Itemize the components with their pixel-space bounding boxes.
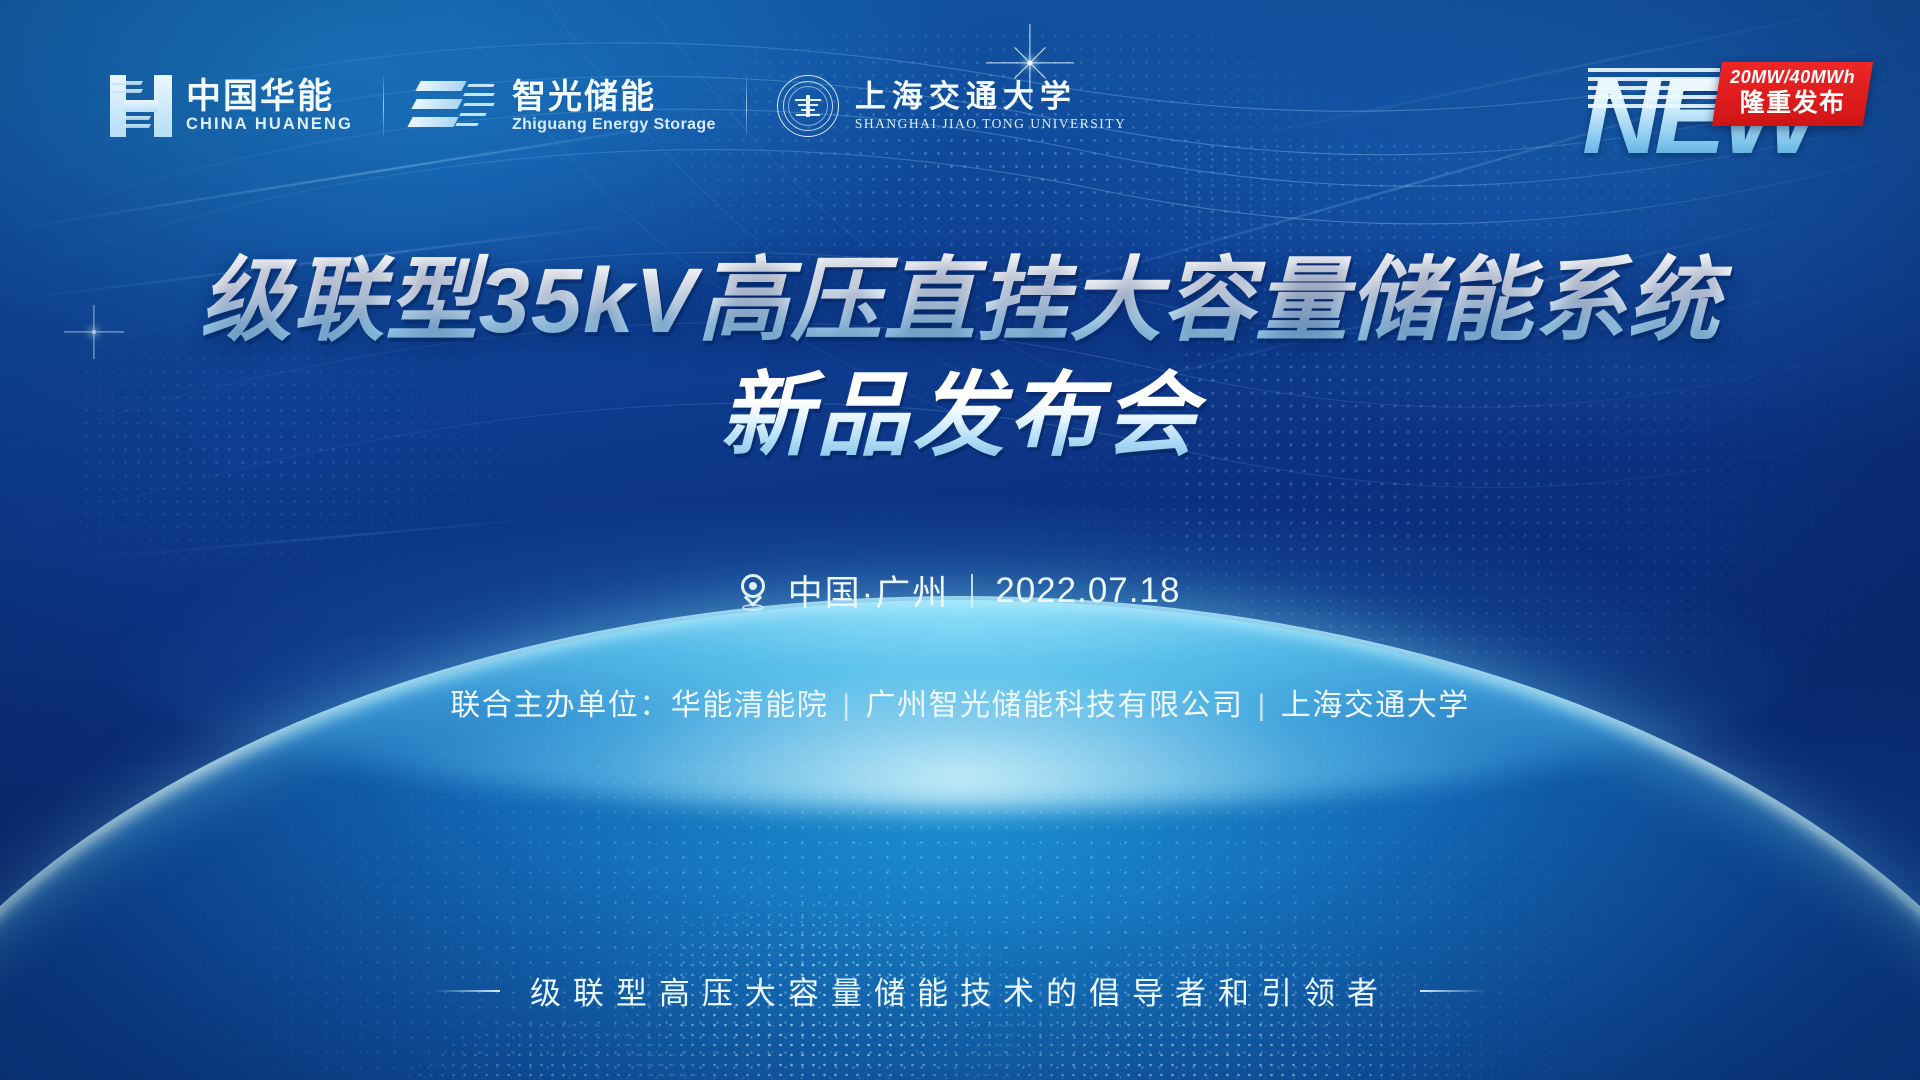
logo-divider-1: [383, 75, 384, 137]
logo-shanghai-jiao-tong-university[interactable]: 上海交通大学 SHANGHAI JIAO TONG UNIVERSITY: [777, 68, 1126, 144]
sjtu-name-en: SHANGHAI JIAO TONG UNIVERSITY: [855, 117, 1126, 131]
footer-slogan-row: 级联型高压大容量储能技术的倡导者和引领者: [0, 968, 1920, 1013]
logo-divider-2: [746, 75, 747, 137]
sjtu-name-cn: 上海交通大学: [855, 81, 1126, 112]
organizers-row: 联合主办单位：华能清能院|广州智光储能科技有限公司|上海交通大学: [0, 680, 1920, 724]
slogan-rule-right: [1420, 990, 1486, 992]
slogan-rule-left: [434, 990, 500, 992]
red-launch-flag: 20MW/40MWh 隆重发布: [1712, 62, 1873, 126]
organizer-2: 广州智光储能科技有限公司: [866, 689, 1244, 722]
organizer-separator-2: |: [1258, 689, 1267, 722]
continent-landmass-3: [360, 1020, 740, 1080]
organizer-3: 上海交通大学: [1281, 689, 1470, 722]
badge-spec-text: 20MW/40MWh: [1730, 68, 1855, 88]
organizer-1: 华能清能院: [671, 689, 829, 722]
event-date: 2022.07.18: [995, 571, 1180, 611]
logo-china-huaneng[interactable]: 中国华能 CHINA HUANENG: [110, 68, 353, 144]
meta-separator: [971, 574, 973, 608]
partner-logo-bar: 中国华能 CHINA HUANENG 智光储能: [110, 68, 1126, 144]
zhiguang-slab-mark-icon: [414, 77, 498, 135]
sjtu-seal-emblem-icon: [795, 95, 821, 117]
sparkle-icon-3: [1318, 758, 1388, 828]
sjtu-seal-icon: [777, 75, 839, 137]
new-release-badge: NEW 20MW/40MWh 隆重发布: [1582, 38, 1862, 178]
organizer-separator-1: |: [842, 689, 851, 722]
huaneng-name-en: CHINA HUANENG: [186, 116, 353, 133]
huaneng-h-mark-icon: [110, 75, 172, 137]
globe-atmosphere-glow: [110, 510, 1810, 810]
event-location: 中国·广州: [788, 565, 950, 616]
organizers-prefix: 联合主办单位：: [450, 689, 671, 722]
new-stripe-lines-icon: [1588, 68, 1720, 114]
badge-label-cn: 隆重发布: [1730, 89, 1855, 118]
page-title-line1: 级联型35kV高压直挂大容量储能系统: [0, 252, 1920, 351]
slogan-text: 级联型高压大容量储能技术的倡导者和引领者: [530, 968, 1390, 1013]
zhiguang-name-en: Zhiguang Energy Storage: [512, 117, 716, 133]
title-block: 级联型35kV高压直挂大容量储能系统 新品发布会: [0, 252, 1920, 467]
logo-zhiguang-energy-storage[interactable]: 智光储能 Zhiguang Energy Storage: [414, 68, 716, 144]
huaneng-name-cn: 中国华能: [186, 79, 353, 114]
page-title-line2: 新品发布会: [0, 367, 1920, 466]
location-pin-icon: [740, 574, 766, 608]
zhiguang-name-cn: 智光储能: [512, 80, 716, 114]
event-meta-row: 中国·广州 2022.07.18: [0, 565, 1920, 616]
event-banner-poster: 中国华能 CHINA HUANENG 智光储能: [0, 0, 1920, 1080]
